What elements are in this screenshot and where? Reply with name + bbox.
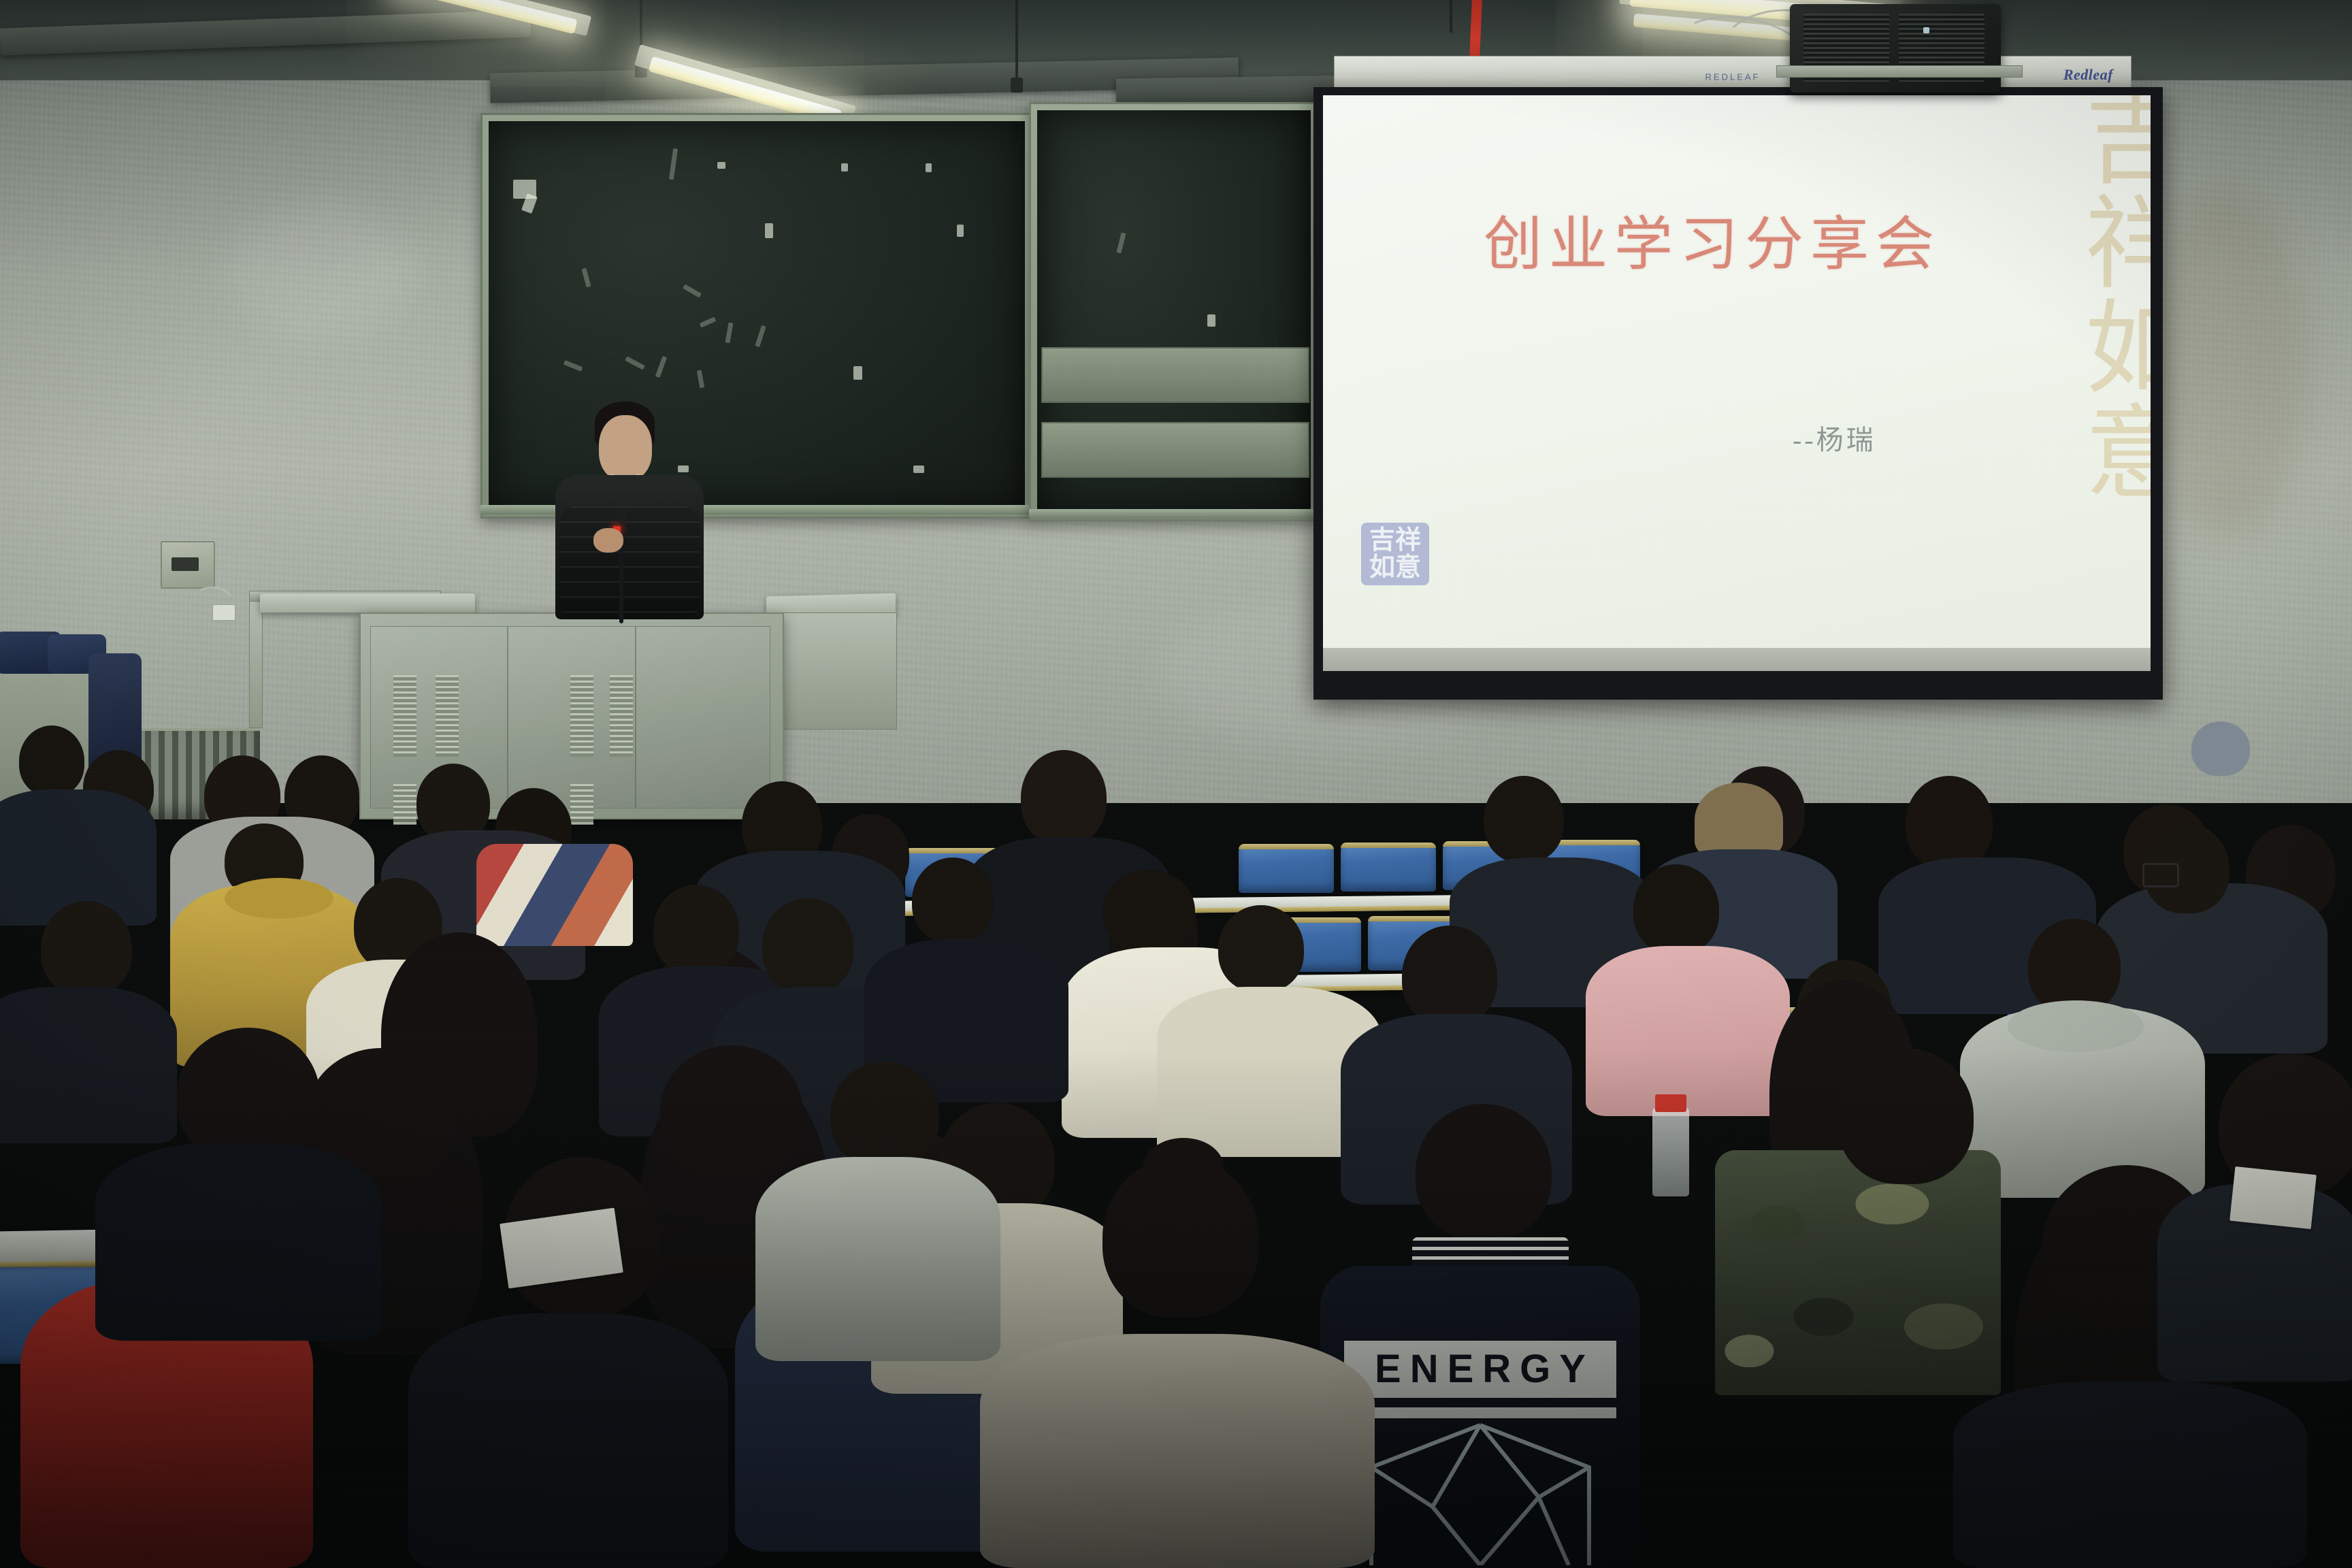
audience-head [1906,776,1993,870]
audience-torso [0,987,177,1143]
audience-torso-patterned [476,844,633,946]
lectern-top-surface [260,593,475,612]
audience-head [41,901,132,996]
water-bottle[interactable] [1652,1108,1689,1196]
projector-led [1923,27,1929,33]
chalk-mark [913,465,924,473]
auditorium-seat[interactable] [1239,844,1334,893]
chalk-mark [725,323,733,344]
valance-brand: Redleaf [2063,66,2113,84]
audience-torso-grey-hoodie [755,1157,1000,1361]
wall-stain [225,204,415,340]
projection-screen: 吉祥如意 创业学习分享会 --杨瑞 吉祥如意 [1313,87,2163,700]
cabinet-vent-louver [610,675,633,757]
ceiling-projector [1790,4,2001,93]
audience-head [1402,926,1497,1026]
audience-head [762,898,853,994]
electrical-junction-box [161,541,215,589]
slide-seal-text: 吉祥如意 [1366,527,1424,581]
light-hanger-rod [1450,0,1452,33]
audience-head [830,1062,939,1168]
chalkboard-slider-panel[interactable] [1041,347,1309,403]
cabinet-vent-louver [570,784,593,825]
audience-head [660,1045,803,1179]
audience-head [912,857,994,943]
chalk-mark [625,356,645,370]
chalkboard-slider-panel[interactable] [1041,422,1309,478]
light-hanger-clip [1011,78,1023,93]
chalk-mark [683,284,702,297]
audience-head-with-cap [1695,783,1783,857]
cabinet-vent-louver [436,675,459,757]
chalk-mark [1116,233,1126,254]
chalk-mark [957,225,964,237]
varsity-jacket-stripe [1344,1407,1616,1418]
audience-head [1021,750,1107,845]
varsity-jacket-text: ENERGY [1366,1350,1595,1389]
lectern-side-panel [783,612,897,730]
chalk-mark [755,325,766,348]
audience-head [2191,721,2250,776]
presenter [538,395,823,619]
water-bottle-cap [1655,1094,1686,1112]
audience-head [653,885,739,975]
eyeglasses [2142,863,2179,887]
slide-watermark: 吉祥如意 [2078,95,2151,649]
varsity-jacket-geometry-graphic [1344,1422,1616,1565]
projection-screen-canvas: 吉祥如意 创业学习分享会 --杨瑞 吉祥如意 [1323,95,2151,671]
chalk-mark [563,360,583,372]
audience-torso [408,1313,728,1568]
presenter-jacket [555,475,704,619]
audience-torso [95,1143,381,1341]
audience-hair-bun [1143,1138,1224,1196]
audience-head [1416,1104,1552,1240]
slide-seal-stamp: 吉祥如意 [1361,523,1429,585]
chalk-mark [853,366,862,380]
chalk-mark [700,316,717,327]
presenter-jacket-quilting [559,506,700,619]
slide-title: 创业学习分享会 [1484,196,1941,281]
chalk-mark [669,148,678,180]
projector-mount-plate [1776,65,2023,78]
slide-author: --杨瑞 [1793,418,1876,457]
audience-head [2028,919,2121,1014]
chalk-mark [1207,314,1215,327]
chalk-mark [697,370,704,389]
cabinet-vent-louver [393,784,416,825]
cabinet-vent-louver [393,675,416,757]
audience-torso-camo-jacket [1715,1150,2001,1395]
audience-torso-pink-jacket [1586,946,1790,1116]
chalk-mark [717,162,725,169]
audience-head [1102,870,1195,951]
chalk-mark [765,223,773,238]
lecture-hall-photo: REDLEAF Redleaf 吉祥如意 创业学习分享会 --杨瑞 吉祥如意 [0,0,2352,1568]
screen-lower-band [1323,648,2151,671]
audience-head [1484,776,1564,863]
chalk-tray [1029,509,1315,519]
hoodie-hood [225,878,333,919]
audience-torso-cream-coat [980,1334,1375,1568]
chalk-mark [581,268,591,288]
auditorium-seat[interactable] [1341,843,1436,892]
audience-torso [1953,1382,2307,1568]
audience-head [1837,1048,1974,1184]
handout-paper[interactable] [2229,1166,2317,1229]
light-hanger-rod [1015,0,1018,82]
chalk-mark [841,163,848,171]
chalk-mark [926,163,932,172]
microphone-head [617,509,627,523]
hoodie-hood [2008,1000,2144,1052]
audience-head [1218,905,1304,992]
junction-box-window [171,557,199,571]
audience-head [1633,864,1719,954]
presenter-hand [593,528,623,553]
presenter-head [599,415,652,480]
cabinet-vent-louver [570,675,593,757]
chalk-mark [655,356,668,378]
wall-stain [2144,184,2307,538]
audience-head [19,725,84,796]
varsity-jacket-energy-band: ENERGY [1344,1341,1616,1398]
cabinet-door-right[interactable] [636,626,770,808]
